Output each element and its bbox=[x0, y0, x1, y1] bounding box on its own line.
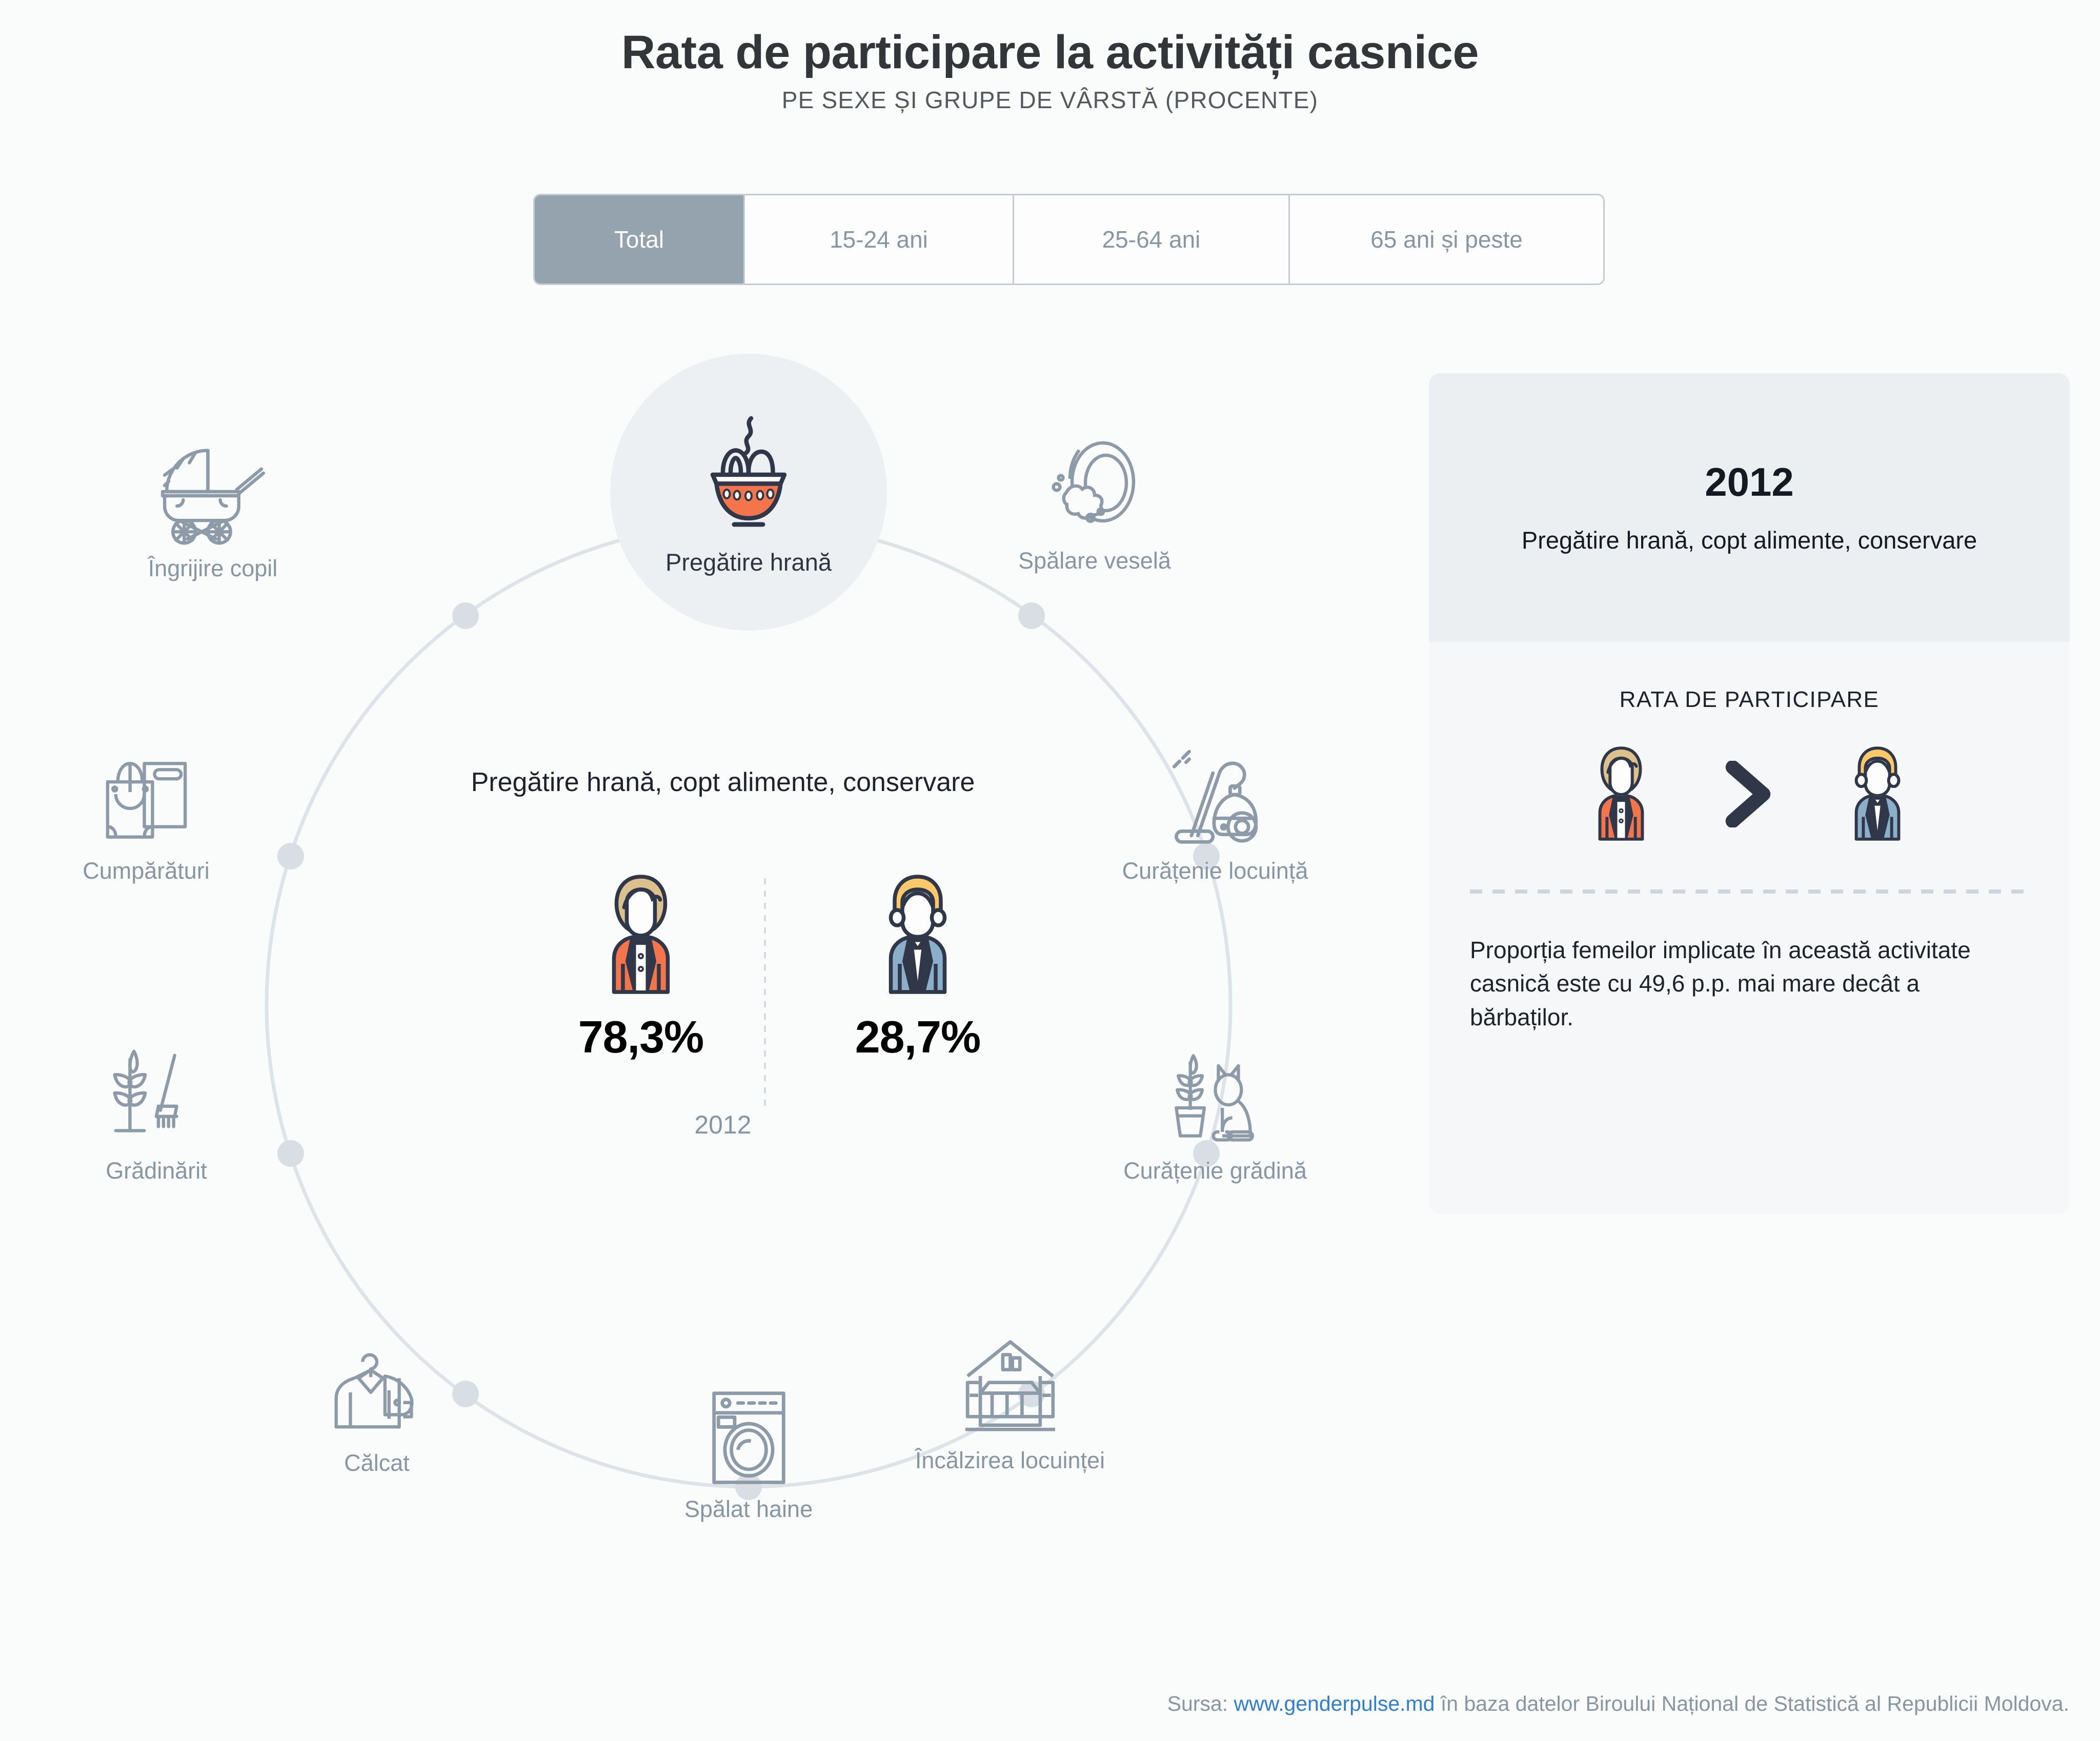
wheel-node-label: Îngrijire copil bbox=[148, 555, 278, 582]
greater-than-icon bbox=[1721, 761, 1778, 827]
plant-cat-icon bbox=[1160, 1043, 1270, 1148]
source-link[interactable]: www.genderpulse.md bbox=[1234, 1692, 1435, 1715]
wheel-node-calcat[interactable]: Călcat bbox=[267, 1338, 487, 1476]
center-female-stat: 78,3% bbox=[518, 869, 764, 1063]
source-footer: Sursa: www.genderpulse.md în baza datelo… bbox=[0, 1692, 2100, 1716]
source-suffix: în baza datelor Biroului Național de Sta… bbox=[1435, 1692, 2069, 1715]
wheel-node-label: Curățenie locuință bbox=[1122, 858, 1308, 884]
gender-comparison bbox=[1470, 741, 2029, 846]
detail-kicker: RATA DE PARTICIPARE bbox=[1470, 687, 2029, 713]
detail-panel-body: RATA DE PARTICIPARE bbox=[1429, 687, 2070, 1034]
wheel-node-label: Cumpărături bbox=[83, 858, 210, 884]
wheel-node-ingrijire-copil[interactable]: Îngrijire copil bbox=[103, 443, 323, 582]
tab-15-24[interactable]: 15-24 ani bbox=[745, 195, 1014, 284]
detail-year: 2012 bbox=[1705, 459, 1794, 505]
washing-machine-icon bbox=[701, 1387, 796, 1487]
stroller-icon bbox=[150, 443, 276, 546]
male-percent: 28,7% bbox=[795, 1011, 1041, 1063]
plant-rake-icon bbox=[97, 1046, 215, 1148]
wheel-node-label: Călcat bbox=[344, 1450, 410, 1476]
center-divider bbox=[764, 878, 766, 1106]
panel-dashed-divider bbox=[1470, 889, 2029, 894]
detail-panel-header: 2012 Pregătire hrană, copt alimente, con… bbox=[1429, 373, 2070, 642]
tab-65-plus[interactable]: 65 ani și peste bbox=[1290, 195, 1603, 284]
panel-note: Proporția femeilor implicate în această … bbox=[1470, 934, 2029, 1034]
wheel-node-label: Spălare veselă bbox=[1018, 548, 1171, 574]
wheel-node-active-pregatire-hrana[interactable]: Pregătire hrană bbox=[610, 354, 887, 631]
wheel-node-label: Curățenie grădină bbox=[1123, 1158, 1307, 1184]
wheel-node-label: Încălzirea locuinței bbox=[915, 1447, 1105, 1474]
female-percent: 78,3% bbox=[518, 1011, 764, 1063]
wheel-node-cumparaturi[interactable]: Cumpărături bbox=[36, 746, 256, 884]
age-group-tabs[interactable]: Total 15-24 ani 25-64 ani 65 ani și pest… bbox=[533, 194, 1605, 285]
noodle-bowl-icon bbox=[684, 408, 813, 539]
center-activity-title: Pregătire hrană, copt alimente, conserva… bbox=[426, 766, 1020, 799]
page-subtitle: PE SEXE ȘI GRUPE DE VÂRSTĂ (PROCENTE) bbox=[0, 86, 2100, 114]
detail-activity: Pregătire hrană, copt alimente, conserva… bbox=[1522, 525, 1977, 556]
center-year-label: 2012 bbox=[426, 1110, 1020, 1140]
dishes-foam-icon bbox=[1038, 436, 1151, 538]
center-male-stat: 28,7% bbox=[795, 869, 1041, 1063]
wheel-node-label: Grădinărit bbox=[106, 1158, 207, 1184]
tab-25-64[interactable]: 25-64 ani bbox=[1014, 195, 1290, 284]
source-prefix: Sursa: bbox=[1167, 1692, 1234, 1715]
male-avatar-small bbox=[1839, 741, 1916, 846]
wheel-node-curatenie-locuinta[interactable]: Curățenie locuință bbox=[1105, 741, 1325, 884]
page-title: Rata de participare la activități casnic… bbox=[0, 26, 2100, 79]
wheel-node-label: Spălat haine bbox=[684, 1496, 813, 1523]
detail-panel: 2012 Pregătire hrană, copt alimente, con… bbox=[1429, 373, 2070, 1214]
house-icon bbox=[955, 1335, 1065, 1438]
wheel-node-incalzirea-locuintei[interactable]: Încălzirea locuinței bbox=[900, 1335, 1120, 1474]
wheel-node-spalare-vesela[interactable]: Spălare veselă bbox=[984, 436, 1205, 574]
shopping-bag-icon bbox=[91, 746, 201, 848]
activity-wheel: Pregătire hrană Spălare veselă bbox=[67, 328, 1369, 1661]
wheel-node-spalat-haine[interactable]: Spălat haine bbox=[638, 1387, 859, 1523]
tab-total[interactable]: Total bbox=[535, 195, 745, 284]
wheel-node-gradinarit[interactable]: Grădinărit bbox=[46, 1046, 267, 1184]
wheel-node-label: Pregătire hrană bbox=[665, 548, 832, 576]
female-avatar-small bbox=[1583, 741, 1660, 846]
iron-shirt-icon bbox=[318, 1338, 436, 1441]
wheel-node-curatenie-gradina[interactable]: Curățenie grădină bbox=[1105, 1043, 1325, 1184]
male-avatar bbox=[869, 990, 966, 999]
vacuum-icon bbox=[1161, 741, 1269, 848]
female-avatar bbox=[592, 990, 690, 999]
